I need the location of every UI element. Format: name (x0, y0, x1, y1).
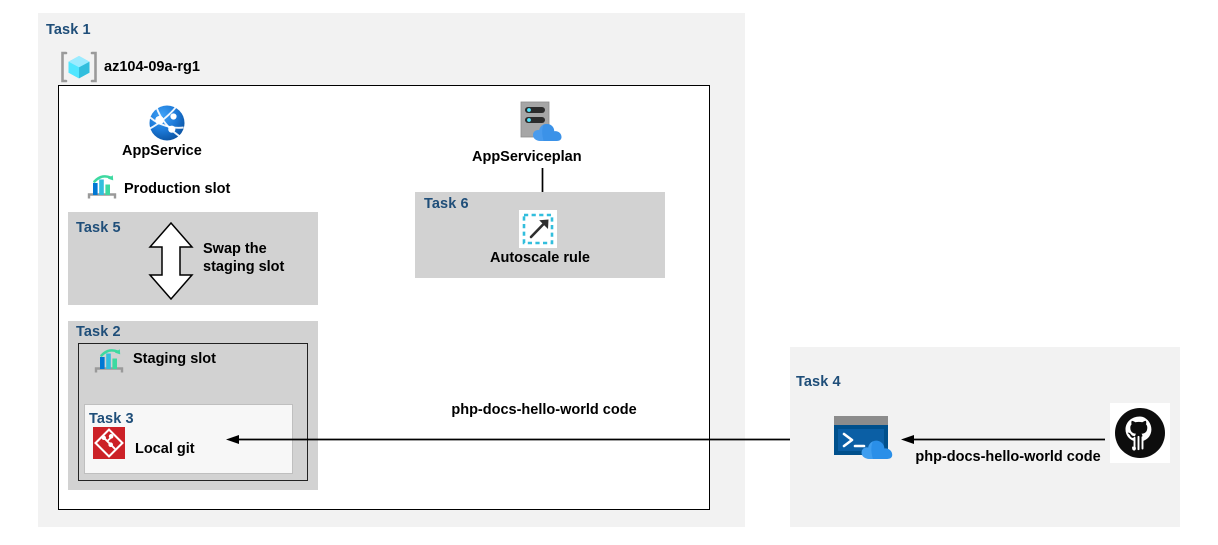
app-service-plan-icon (512, 100, 570, 144)
code-push-arrow (225, 430, 825, 450)
deployment-slot-icon (93, 348, 125, 376)
deployment-slot-icon (86, 174, 118, 202)
swap-updown-arrow-icon (147, 222, 195, 300)
autoscale-rule-label: Autoscale rule (490, 249, 590, 267)
resource-group-name: az104-09a-rg1 (104, 58, 200, 76)
app-service-label: AppService (122, 142, 202, 160)
task4-label: Task 4 (796, 374, 841, 390)
github-icon (1110, 403, 1170, 463)
github-to-cloudshell-arrow (900, 430, 1105, 450)
app-service-icon (147, 103, 187, 143)
task6-label: Task 6 (424, 196, 469, 212)
task1-label: Task 1 (46, 22, 91, 38)
local-git-label: Local git (135, 440, 195, 458)
task4-transfer-label: php-docs-hello-world code (908, 448, 1108, 466)
diagram-canvas: Task 1 az104-09a-rg1 (0, 0, 1218, 545)
task5-label: Task 5 (76, 220, 121, 236)
production-slot-label: Production slot (124, 180, 230, 198)
task2-label: Task 2 (76, 324, 121, 340)
cloud-shell-icon (832, 414, 902, 462)
center-flow-label: php-docs-hello-world code (444, 401, 644, 419)
task5-action-label: Swap the staging slot (203, 240, 313, 276)
resource-group-icon (60, 50, 98, 84)
task3-label: Task 3 (89, 411, 134, 427)
git-icon (93, 427, 125, 459)
autoscale-icon (519, 210, 557, 248)
app-service-plan-label: AppServiceplan (472, 148, 582, 166)
staging-slot-label: Staging slot (133, 350, 216, 368)
